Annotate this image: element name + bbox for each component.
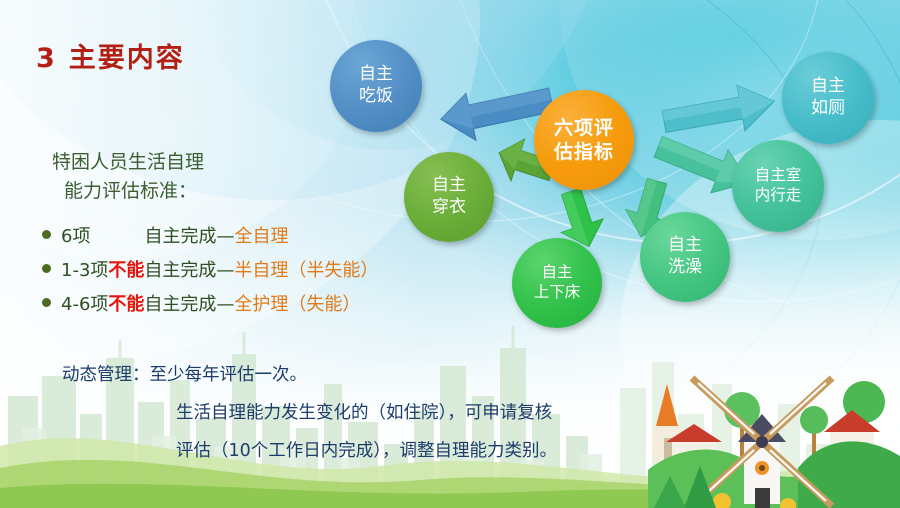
node-toileting-label-line-1: 自主 <box>811 76 845 98</box>
page-title: 3主要内容 <box>36 36 185 75</box>
standard-heading: 特困人员生活自理 能力评估标准： <box>52 148 204 206</box>
paragraph-line-1: 动态管理：至少每年评估一次。 <box>62 365 307 385</box>
criteria-condition: 自主完成— <box>144 256 234 282</box>
hub-node-six-indicators[interactable]: 六项评 估指标 <box>534 90 634 190</box>
paragraph-line-2: 生活自理能力发生变化的（如住院），可申请复核 <box>62 394 557 432</box>
node-eating-label-line-2: 吃饭 <box>359 86 393 108</box>
criteria-result: 全自理 <box>234 222 288 248</box>
bullet-dot-icon <box>42 230 51 239</box>
list-item: 1-3项 不能 自主完成— 半自理（半失能） <box>42 256 378 290</box>
criteria-negation: 不能 <box>108 256 144 282</box>
list-item: 4-6项 不能 自主完成— 全护理（失能） <box>42 290 378 324</box>
node-bathing-label-line-2: 洗澡 <box>668 257 702 279</box>
node-bed-transfer-label-line-2: 上下床 <box>534 283 581 303</box>
node-indoor-walking-label-line-1: 自主室 <box>755 166 802 186</box>
node-eating-label-line-1: 自主 <box>359 64 393 86</box>
node-toileting[interactable]: 自主 如厕 <box>782 52 874 144</box>
node-indoor-walking[interactable]: 自主室 内行走 <box>732 140 824 232</box>
node-dressing[interactable]: 自主 穿衣 <box>404 152 494 242</box>
paragraph-line-3: 评估（10个工作日内完成），调整自理能力类别。 <box>62 432 557 470</box>
windmill-illustration <box>648 330 900 508</box>
criteria-result: 半自理（半失能） <box>234 256 378 282</box>
criteria-count: 4-6项 <box>61 290 108 316</box>
arrow-to-toileting <box>660 85 778 147</box>
node-dressing-label-line-2: 穿衣 <box>432 197 466 219</box>
list-item: 6项 自主完成— 全自理 <box>42 222 378 256</box>
node-indoor-walking-label-line-2: 内行走 <box>755 186 802 206</box>
node-bathing-label-line-1: 自主 <box>668 235 702 257</box>
page-title-number: 3 <box>36 43 57 74</box>
node-toileting-label-line-2: 如厕 <box>811 98 845 120</box>
criteria-result: 全护理（失能） <box>234 290 360 316</box>
hub-node-label-line-1: 六项评 <box>554 116 614 140</box>
criteria-list: 6项 自主完成— 全自理 1-3项 不能 自主完成— 半自理（半失能） 4-6项… <box>42 222 378 324</box>
standard-heading-line-1: 特困人员生活自理 <box>52 151 204 173</box>
criteria-count: 6项 <box>61 222 90 248</box>
dynamic-management-paragraph: 动态管理：至少每年评估一次。 生活自理能力发生变化的（如住院），可申请复核 评估… <box>62 356 557 470</box>
slide-canvas: 3主要内容 特困人员生活自理 能力评估标准： 6项 自主完成— 全自理 1-3项… <box>0 0 900 508</box>
page-title-text: 主要内容 <box>69 43 185 74</box>
criteria-negation: 不能 <box>108 290 144 316</box>
criteria-count: 1-3项 <box>61 256 108 282</box>
bullet-dot-icon <box>42 264 51 273</box>
standard-heading-line-2: 能力评估标准： <box>52 177 204 206</box>
node-bed-transfer[interactable]: 自主 上下床 <box>512 238 602 328</box>
node-bed-transfer-label-line-1: 自主 <box>541 263 572 283</box>
hub-node-label-line-2: 估指标 <box>554 140 614 164</box>
criteria-condition: 自主完成— <box>144 222 234 248</box>
node-dressing-label-line-1: 自主 <box>432 175 466 197</box>
criteria-condition: 自主完成— <box>144 290 234 316</box>
node-eating[interactable]: 自主 吃饭 <box>330 40 422 132</box>
node-bathing[interactable]: 自主 洗澡 <box>640 212 730 302</box>
bullet-dot-icon <box>42 298 51 307</box>
